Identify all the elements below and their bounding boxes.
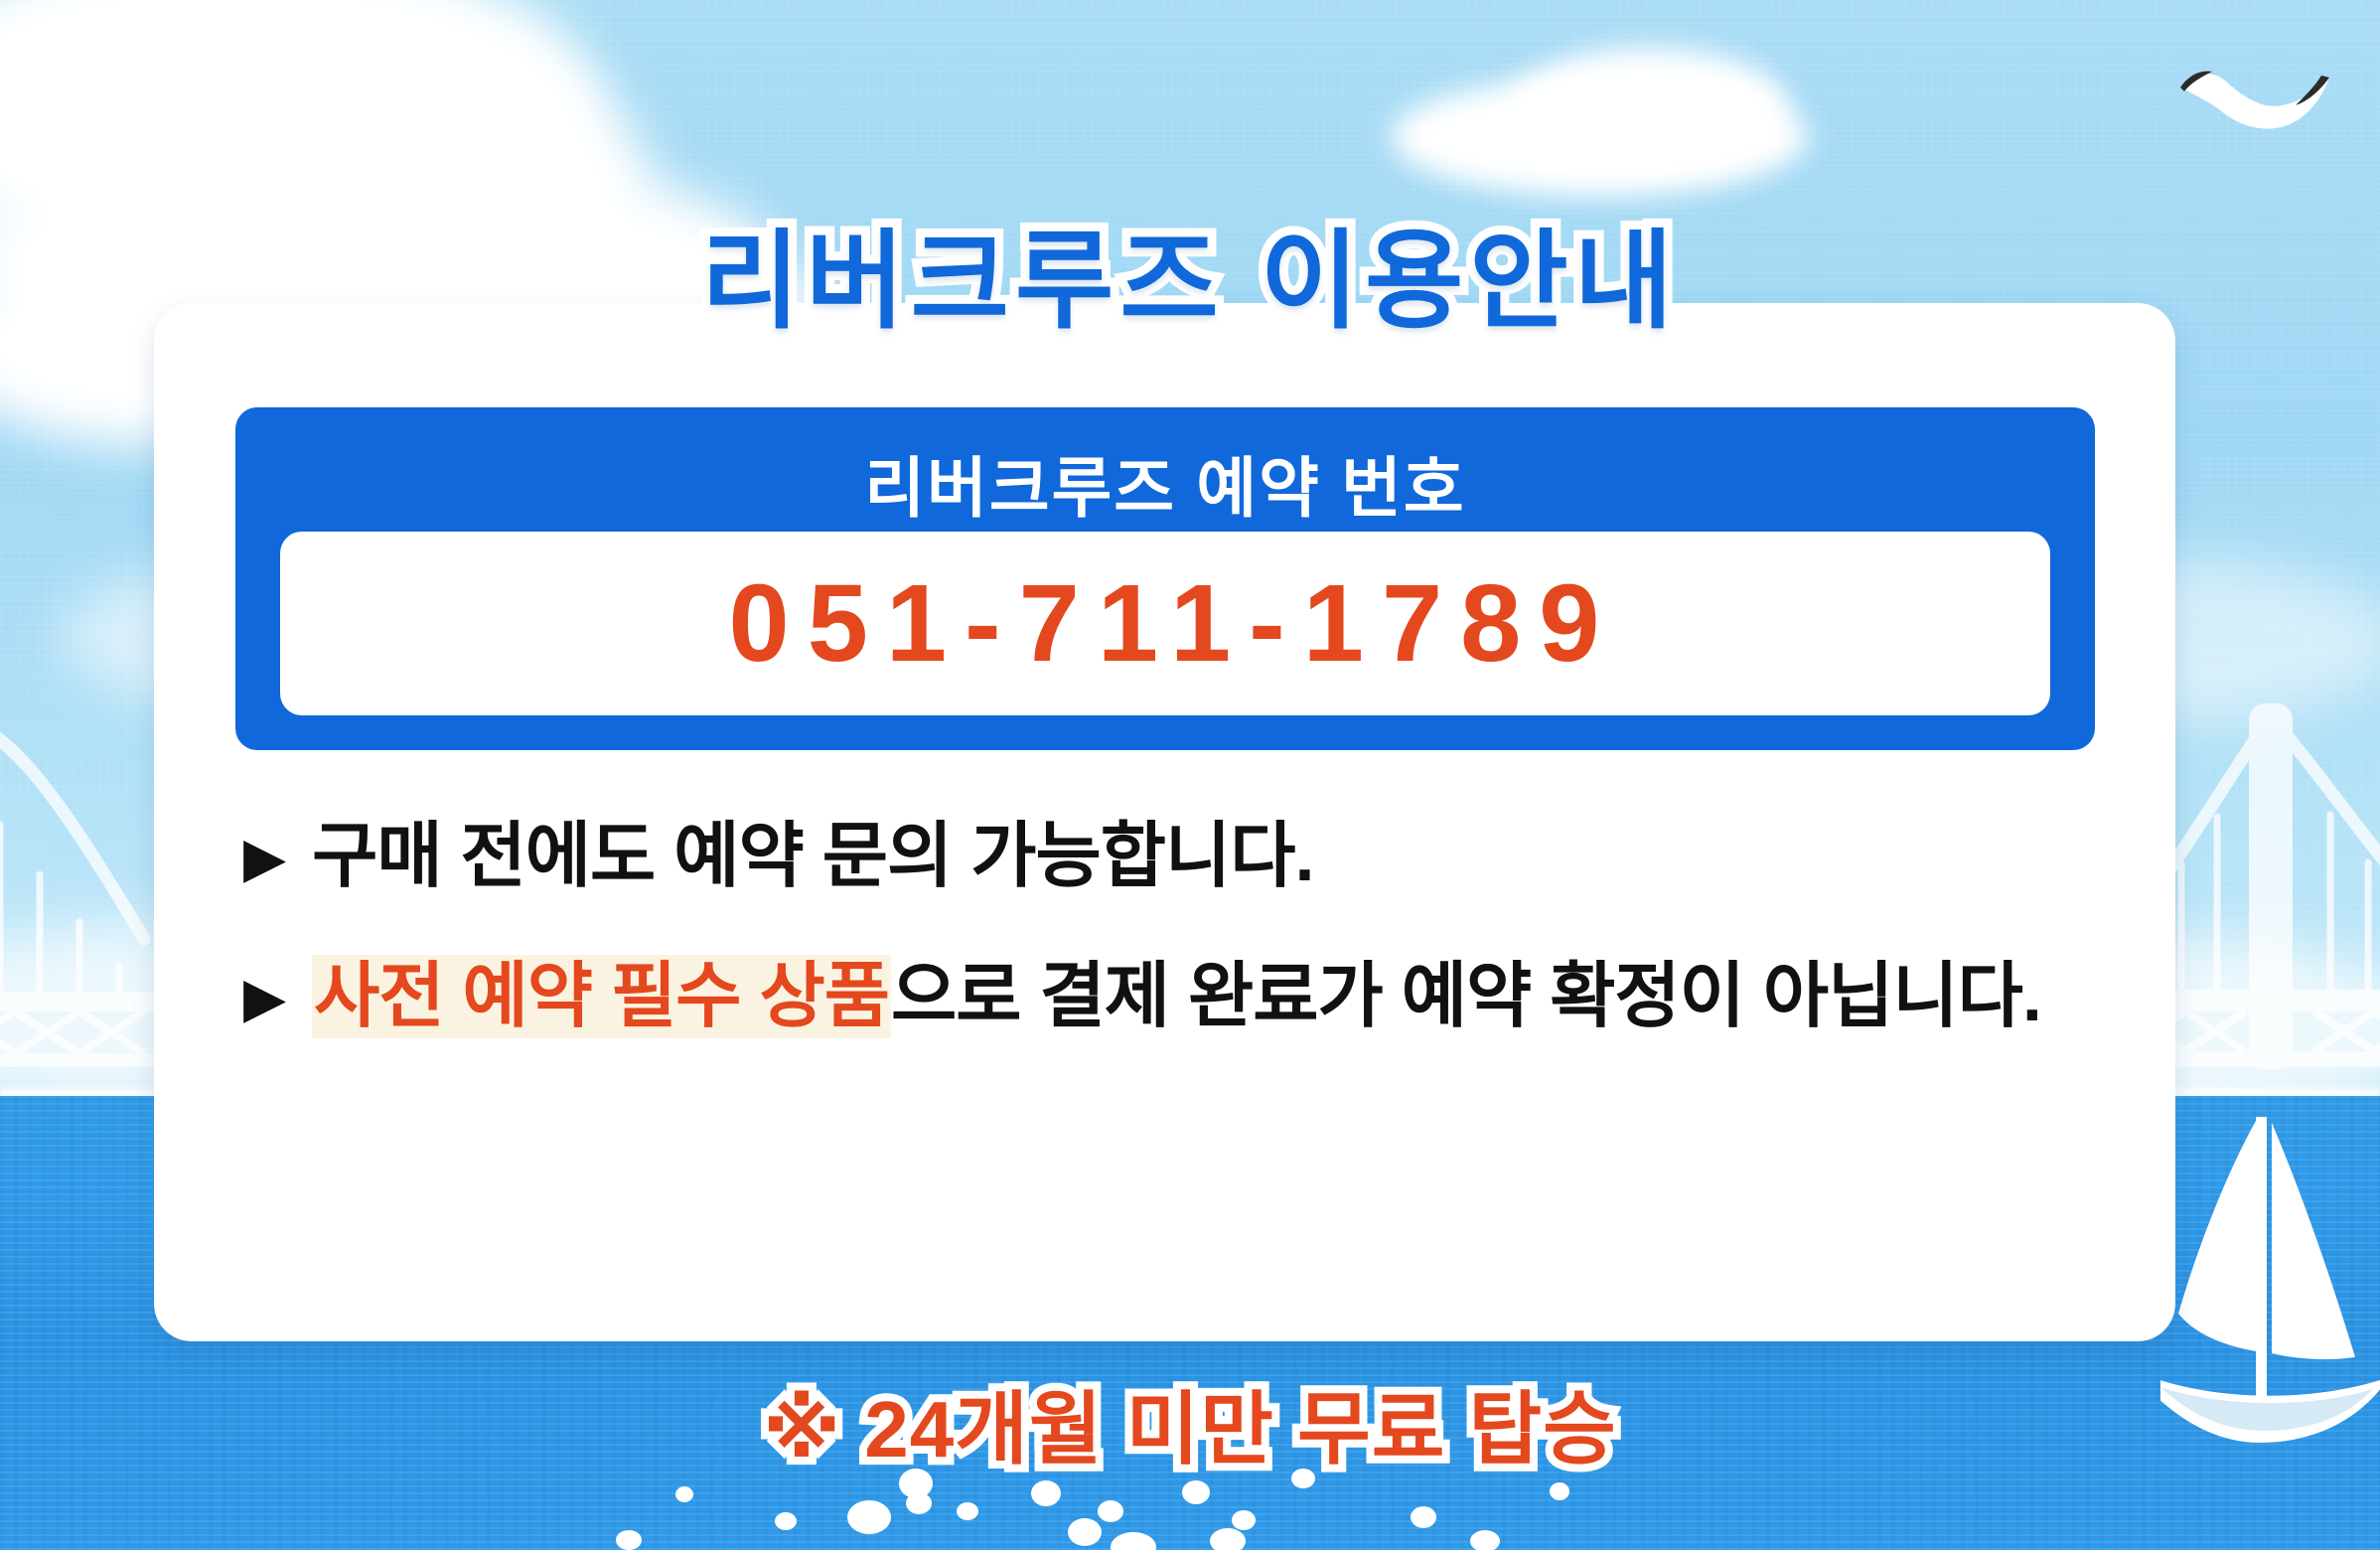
note-body: 으로 결제 완료가 예약 확정이 아닙니다. (891, 957, 2041, 1036)
free-boarding-caption: ※ 24개월 미만 무료 탑승 (0, 1365, 2380, 1480)
sea-foam-icon (957, 1502, 978, 1520)
note-text: 구매 전에도 예약 문의 가능합니다. (312, 815, 1313, 899)
sea-foam-icon (1470, 1530, 1500, 1550)
note-text: 사전 예약 필수 상품으로 결제 완료가 예약 확정이 아닙니다. (312, 955, 2041, 1039)
seagull-icon (2170, 48, 2349, 157)
sea-foam-icon (1182, 1480, 1210, 1504)
reservation-phone-block: 리버크루즈 예약 번호 051-711-1789 (235, 407, 2095, 750)
info-card: 리버크루즈 예약 번호 051-711-1789 ▶ 구매 전에도 예약 문의 … (154, 303, 2175, 1341)
notes-list: ▶ 구매 전에도 예약 문의 가능합니다. ▶ 사전 예약 필수 상품으로 결제… (243, 815, 2111, 1039)
sea-foam-icon (1550, 1482, 1569, 1500)
sea-foam-icon (1031, 1480, 1061, 1506)
sea-foam-icon (1210, 1528, 1246, 1550)
sea-foam-icon (675, 1486, 693, 1502)
sea-foam-icon (906, 1492, 932, 1514)
reservation-label: 리버크루즈 예약 번호 (235, 435, 2095, 531)
note-highlight: 사전 예약 필수 상품 (312, 955, 891, 1038)
sea-foam-icon (1098, 1500, 1123, 1522)
triangle-right-icon: ▶ (243, 825, 286, 890)
cloud-icon (1510, 48, 1788, 167)
sea-foam-icon (847, 1500, 891, 1534)
note-body: 구매 전에도 예약 문의 가능합니다. (312, 817, 1313, 896)
list-item: ▶ 사전 예약 필수 상품으로 결제 완료가 예약 확정이 아닙니다. (243, 955, 2111, 1039)
sea-foam-icon (616, 1530, 642, 1550)
triangle-right-icon: ▶ (243, 965, 286, 1030)
poster-canvas: 리버크루즈 이용안내 리버크루즈 예약 번호 051-711-1789 ▶ 구매… (0, 0, 2380, 1550)
reservation-phone-number: 051-711-1789 (729, 560, 1618, 687)
sea-foam-icon (1411, 1506, 1436, 1528)
sea-foam-icon (775, 1512, 797, 1530)
sea-foam-icon (1068, 1518, 1102, 1546)
list-item: ▶ 구매 전에도 예약 문의 가능합니다. (243, 815, 2111, 899)
reservation-phone-pill[interactable]: 051-711-1789 (280, 532, 2050, 715)
sea-foam-icon (1232, 1510, 1256, 1530)
page-title: 리버크루즈 이용안내 (0, 195, 2380, 350)
